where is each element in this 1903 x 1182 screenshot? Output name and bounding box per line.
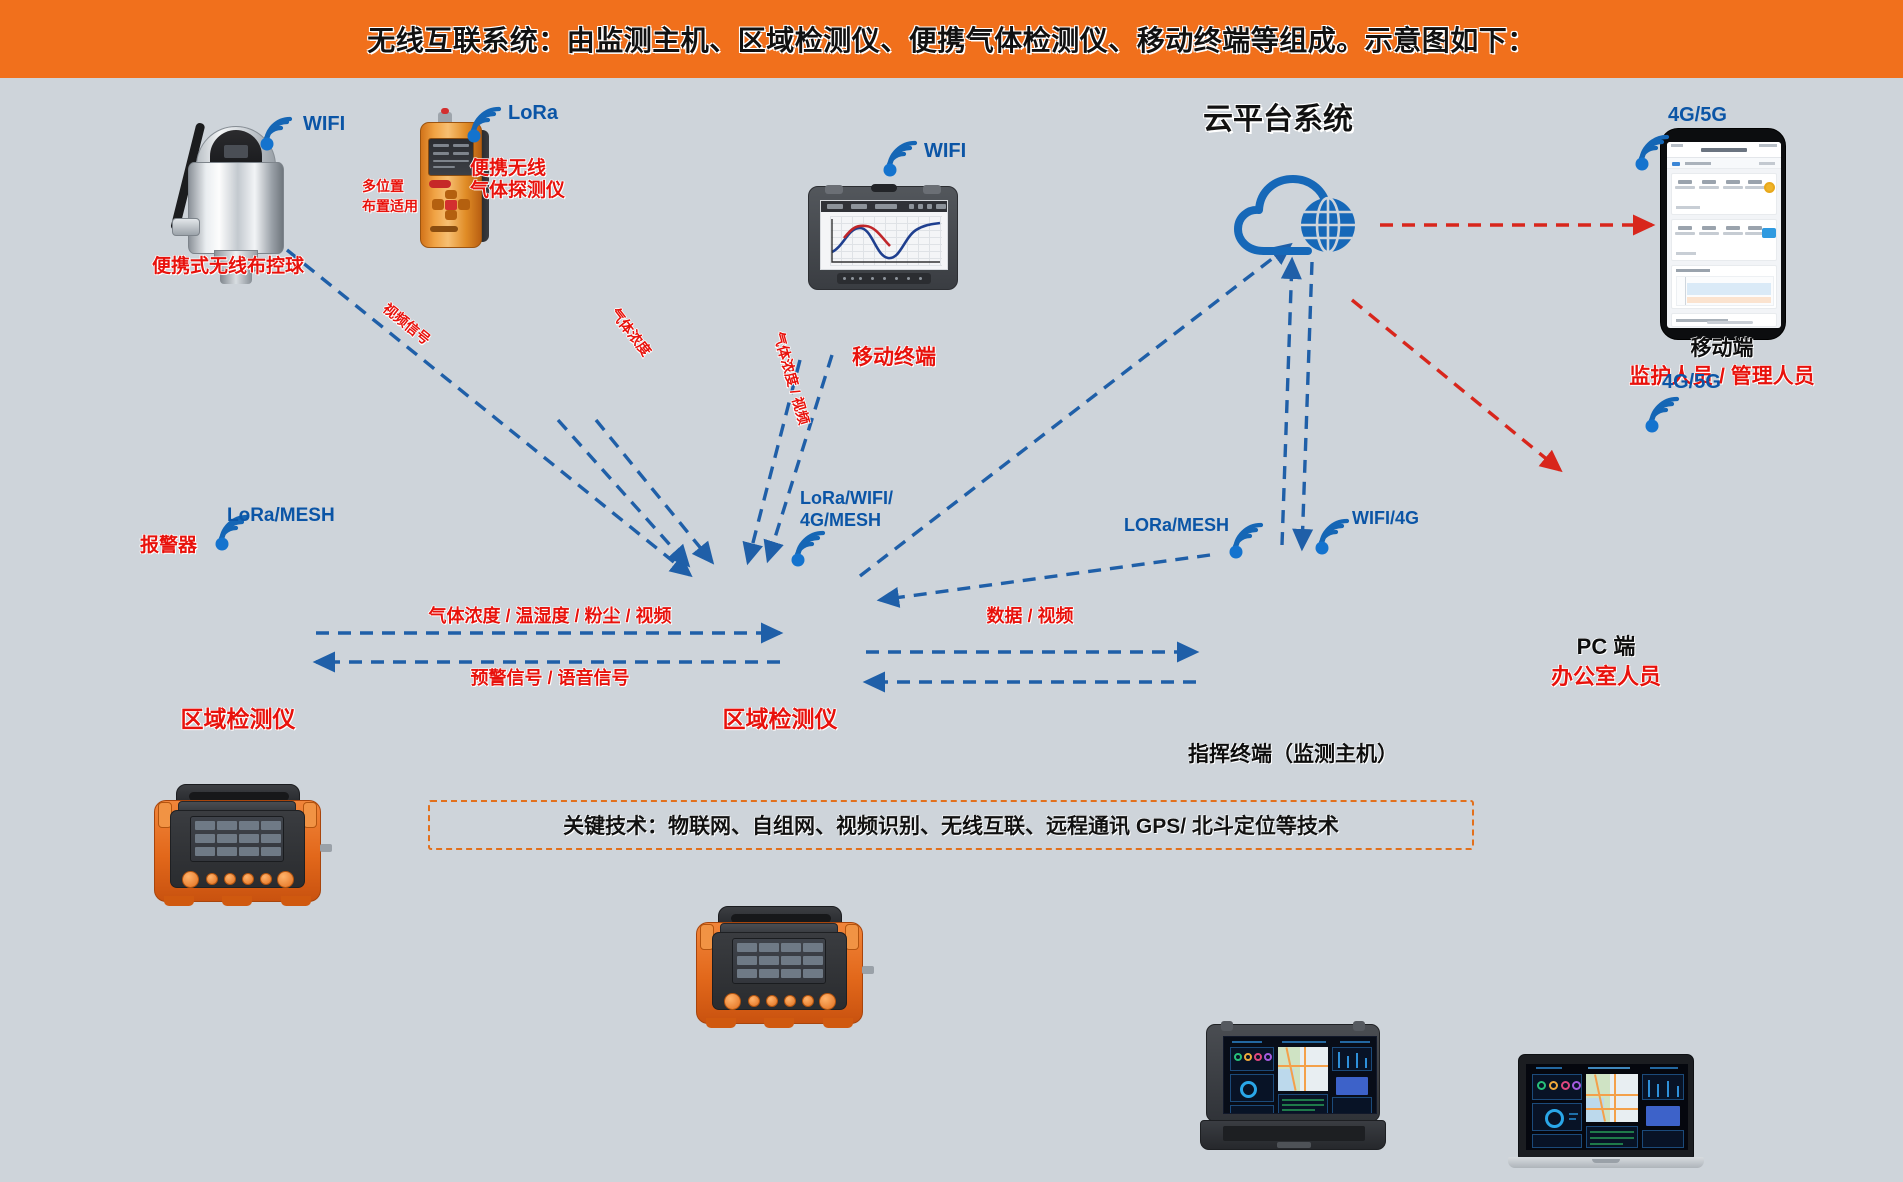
gas-detector-note-line2: 布置适用: [362, 198, 418, 215]
command-terminal-keyboard[interactable]: [1223, 1126, 1365, 1141]
key-technology-box: 关键技术：物联网、自组网、视频识别、无线互联、远程通讯 GPS/ 北斗定位等技术: [428, 800, 1474, 850]
pc-map: [1586, 1074, 1638, 1122]
command-terminal-signal-right: WIFI/4G: [1352, 508, 1419, 530]
phone-status-indicator: [1764, 182, 1775, 193]
camera-name-label: 便携式无线布控球: [152, 256, 304, 279]
camera-body: [188, 162, 284, 254]
cloud-globe-icon: [1230, 155, 1370, 265]
command-terminal-touchpad[interactable]: [1277, 1142, 1311, 1148]
tablet-signal-label: WIFI: [924, 139, 966, 163]
camera-signal-label: WIFI: [303, 112, 345, 136]
phone-toolbar[interactable]: [1667, 158, 1781, 169]
phone-signal-label: 4G/5G: [1668, 103, 1727, 127]
gas-detector-center-button[interactable]: [445, 200, 457, 210]
phone-name-label: 移动端: [1642, 336, 1802, 361]
area-detector-port: [320, 844, 332, 852]
phone-stats-card-2[interactable]: [1671, 219, 1777, 261]
gas-detector-signal-label: LoRa: [508, 101, 558, 125]
area-detector-center-signal-line2: 4G/MESH: [800, 510, 881, 532]
wifi-icon: [878, 138, 922, 178]
command-terminal-hinge-left: [1221, 1021, 1233, 1031]
gas-detector-keypad[interactable]: [432, 190, 470, 220]
page-title: 无线互联系统：由监测主机、区域检测仪、便携气体检测仪、移动终端等组成。示意图如下…: [367, 19, 1536, 59]
link-label-video-signal: 视频信号: [379, 300, 433, 348]
area-detector-screen: [732, 938, 826, 984]
phone-role-label: 监护人员 / 管理人员: [1612, 364, 1832, 389]
command-terminal-hinge-right: [1353, 1021, 1365, 1031]
gas-detector-name-line2: 气体探测仪: [470, 180, 565, 203]
area-detector-buttons[interactable]: [182, 870, 294, 890]
tablet-status-bar: [821, 201, 947, 212]
area-detector-feet: [706, 1018, 853, 1028]
link-label-gas-video: 气体浓度 / 视频: [770, 330, 813, 427]
pc-name-label: PC 端: [1516, 634, 1696, 660]
command-terminal-name: 指挥终端（监测主机）: [1118, 742, 1468, 767]
camera-knob: [172, 218, 200, 236]
area-detector-left-name: 区域检测仪: [138, 706, 338, 734]
area-detector-feet: [164, 896, 311, 906]
area-detector-port: [862, 966, 874, 974]
area-detector-screen: [190, 816, 284, 862]
tablet-button-row[interactable]: [837, 273, 931, 284]
alarm-name-label: 报警器: [140, 535, 197, 558]
phone-body: [1660, 128, 1786, 340]
phone-list-card[interactable]: [1671, 313, 1777, 327]
pc-signal-label: 4G/5G: [1662, 370, 1721, 394]
alarm-signal-label: LoRa/MESH: [227, 505, 335, 528]
device-mobile-phone[interactable]: [1660, 128, 1786, 340]
phone-app-header: [1667, 142, 1781, 158]
page-header: 无线互联系统：由监测主机、区域检测仪、便携气体检测仪、移动终端等组成。示意图如下…: [0, 0, 1903, 78]
multi-radio-icon: [786, 528, 830, 568]
pc-screen: [1526, 1064, 1688, 1150]
phone-home-indicator: [1707, 321, 1753, 324]
link-label-gas-concentration: 气体浓度: [607, 305, 655, 359]
phone-chart-card[interactable]: [1671, 265, 1777, 309]
area-detector-buttons[interactable]: [724, 992, 836, 1012]
command-terminal-base: [1200, 1120, 1386, 1150]
tablet-chart: [830, 216, 942, 266]
tablet-camera: [871, 184, 897, 192]
lora-icon: [462, 104, 506, 144]
gas-detector-note-line1: 多位置: [362, 178, 404, 195]
gas-detector-alarm-strip: [429, 180, 451, 188]
command-terminal-map: [1278, 1047, 1328, 1091]
key-technology-text: 关键技术：物联网、自组网、视频识别、无线互联、远程通讯 GPS/ 北斗定位等技术: [563, 810, 1339, 840]
tablet-ear-right: [923, 185, 941, 194]
gas-detector-grille: [430, 226, 458, 232]
tablet-screen: [820, 200, 948, 270]
diagram-canvas: 无线互联系统：由监测主机、区域检测仪、便携气体检测仪、移动终端等组成。示意图如下…: [0, 0, 1903, 870]
lora-mesh-icon: [1224, 520, 1268, 560]
cloud-platform-title: 云平台系统: [1203, 102, 1353, 138]
pc-lid: [1518, 1054, 1694, 1158]
pc-role-label: 办公室人员: [1506, 664, 1706, 690]
link-label-alarm-voice: 预警信号 / 语音信号: [360, 668, 740, 690]
device-command-terminal[interactable]: [1200, 1024, 1386, 1152]
pc-notch: [1592, 1159, 1620, 1163]
tablet-name-label: 移动终端: [852, 345, 936, 370]
phone-screen: [1667, 142, 1781, 328]
device-area-detector-center[interactable]: [692, 906, 867, 1028]
gas-detector-name-line1: 便携无线: [470, 158, 546, 181]
device-area-detector-left[interactable]: [150, 784, 325, 906]
link-label-data-video: 数据 / 视频: [900, 606, 1160, 628]
wifi-icon: [255, 112, 299, 152]
tablet-frame: [808, 186, 958, 290]
area-detector-clip-right: [303, 802, 317, 828]
command-terminal-screen: [1223, 1036, 1377, 1114]
link-label-sensor-data: 气体浓度 / 温湿度 / 粉尘 / 视频: [340, 606, 760, 628]
area-detector-center-name: 区域检测仪: [680, 706, 880, 734]
wifi-icon: [1310, 516, 1354, 556]
tablet-ear-left: [825, 185, 843, 194]
command-terminal-signal-left: LORa/MESH: [1124, 515, 1229, 537]
area-detector-center-signal-line1: LoRa/WIFI/: [800, 488, 893, 510]
command-terminal-lid: [1206, 1024, 1380, 1122]
signal-icon: [1640, 394, 1684, 434]
signal-icon: [1630, 132, 1674, 172]
device-pc-laptop[interactable]: [1508, 1054, 1704, 1182]
phone-stats-card-1[interactable]: [1671, 173, 1777, 215]
area-detector-clip-right: [845, 924, 859, 950]
